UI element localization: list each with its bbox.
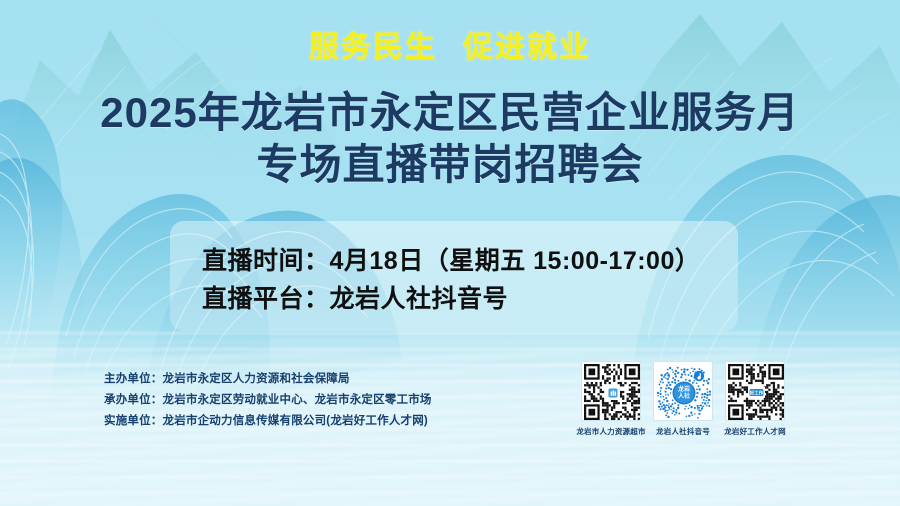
organizer-executor: 实施单位：龙岩市企动力信息传媒有限公司(龙岩好工作人才网) bbox=[104, 411, 432, 432]
douyin-note-icon bbox=[694, 371, 704, 381]
organizer-block: 主办单位：龙岩市永定区人力资源和社会保障局 承办单位：龙岩市永定区劳动就业中心、… bbox=[104, 369, 432, 432]
svg-text:好工作: 好工作 bbox=[749, 390, 764, 397]
qr-pattern-square-icon bbox=[582, 362, 641, 421]
qr-code-job-portal[interactable]: 好工作 bbox=[725, 361, 785, 421]
page-title-line2: 专场直播带岗招聘会 bbox=[0, 140, 900, 190]
qr-caption: 龙岩人社抖音号 bbox=[656, 426, 710, 437]
qr-code-item[interactable]: 龙岩 人社 龙岩人社抖音号 bbox=[653, 361, 713, 437]
qr-caption: 龙岩好工作人才网 bbox=[724, 426, 786, 437]
organizer-host: 主办单位：龙岩市永定区人力资源和社会保障局 bbox=[104, 369, 432, 390]
svg-text:人社: 人社 bbox=[678, 392, 690, 400]
svg-text:龙岩: 龙岩 bbox=[678, 385, 690, 393]
live-platform-text: 直播平台：龙岩人社抖音号 bbox=[202, 279, 508, 315]
poster-canvas: 服务民生促进就业 2025年龙岩市永定区民营企业服务月 专场直播带岗招聘会 直播… bbox=[0, 0, 900, 506]
page-title-line1: 2025年龙岩市永定区民营企业服务月 bbox=[0, 88, 900, 138]
tagline: 服务民生促进就业 bbox=[0, 22, 900, 66]
building-icon bbox=[609, 389, 618, 398]
organizer-coorganizer: 承办单位：龙岩市永定区劳动就业中心、龙岩市永定区零工市场 bbox=[104, 390, 432, 411]
qr-pattern-square-icon: 好工作 bbox=[726, 362, 785, 421]
qr-caption: 龙岩市人力资源超市 bbox=[576, 426, 645, 437]
qr-code-item[interactable]: 好工作 龙岩好工作人才网 bbox=[725, 361, 785, 437]
brand-logo-icon: 好工作 bbox=[749, 389, 764, 397]
tagline-left: 服务民生 bbox=[309, 31, 437, 64]
tagline-right: 促进就业 bbox=[463, 31, 591, 64]
qr-code-item[interactable]: 龙岩市人力资源超市 bbox=[581, 361, 641, 437]
qr-code-douyin[interactable]: 龙岩 人社 bbox=[653, 361, 713, 421]
qr-code-human-resource-market[interactable] bbox=[581, 361, 641, 421]
qr-code-group: 龙岩市人力资源超市 龙岩 人社 bbox=[581, 361, 785, 437]
live-time-text: 直播时间：4月18日（星期五 15:00-17:00） bbox=[202, 241, 700, 277]
qr-pattern-circular-icon: 龙岩 人社 bbox=[654, 362, 713, 421]
